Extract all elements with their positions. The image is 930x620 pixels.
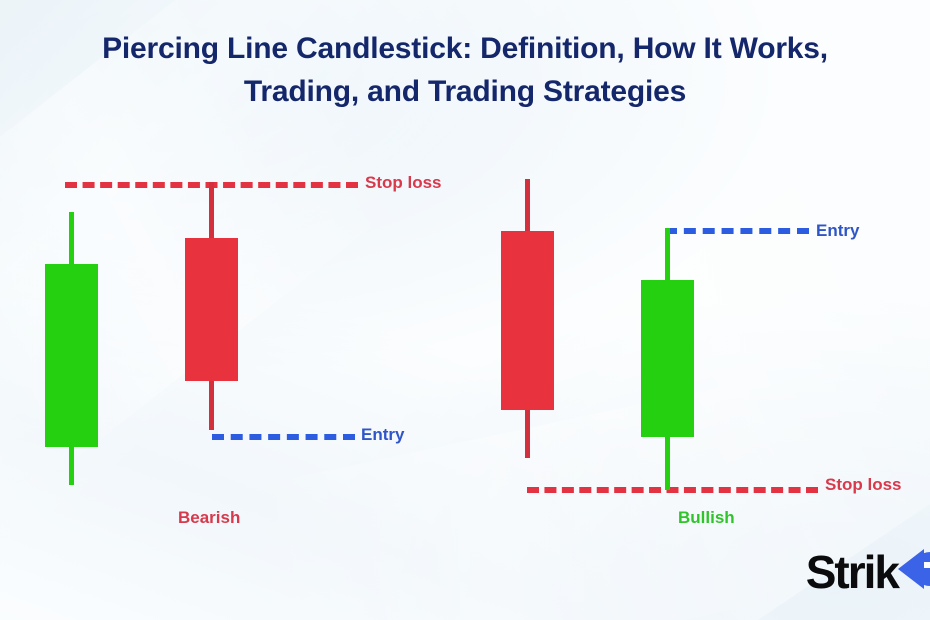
- right-candle-2-bullish: [641, 280, 694, 437]
- left-entry-label: Entry: [361, 425, 404, 445]
- right-stop-loss-line: [527, 487, 818, 493]
- strike-logo[interactable]: Strik: [806, 545, 930, 598]
- left-candle-1-bullish: [45, 264, 98, 447]
- logo-e-arrow-icon: [884, 545, 930, 598]
- left-stop-loss-label: Stop loss: [365, 173, 442, 193]
- right-candle-1-bearish: [501, 231, 554, 410]
- right-stop-loss-label: Stop loss: [825, 475, 902, 495]
- candle-body: [641, 280, 694, 437]
- background-sheen: [233, 374, 827, 620]
- candle-body: [185, 238, 238, 381]
- candle-body: [45, 264, 98, 447]
- left-group-label: Bearish: [178, 508, 240, 528]
- right-entry-label: Entry: [816, 221, 859, 241]
- left-entry-line: [212, 434, 355, 440]
- candle-body: [501, 231, 554, 410]
- right-group-label: Bullish: [678, 508, 735, 528]
- right-entry-line: [665, 228, 809, 234]
- left-candle-2-bearish: [185, 238, 238, 381]
- infographic-canvas: Piercing Line Candlestick: Definition, H…: [0, 0, 930, 620]
- page-title: Piercing Line Candlestick: Definition, H…: [0, 28, 930, 113]
